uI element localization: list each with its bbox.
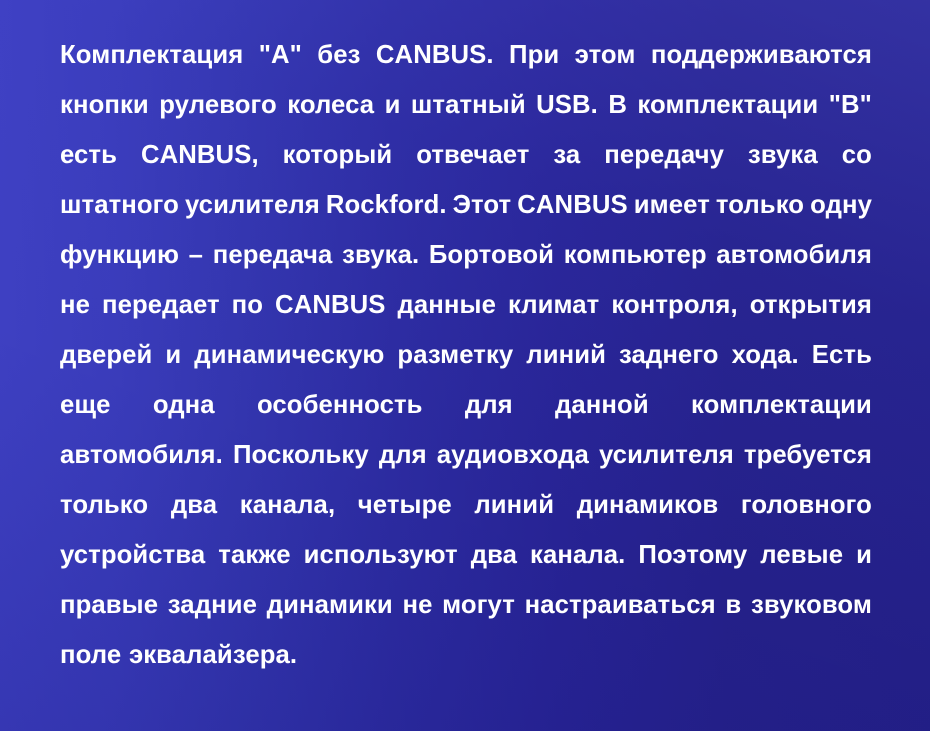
word: одна <box>153 380 215 430</box>
word: "А" <box>259 30 302 80</box>
word: Поэтому <box>638 530 747 580</box>
word: головного <box>741 480 872 530</box>
word: устройства <box>60 530 205 580</box>
word: Поскольку <box>233 430 369 480</box>
word: хода. <box>732 330 799 380</box>
paragraph-line-words: естьCANBUS,которыйотвечаетзапередачузвук… <box>60 130 872 180</box>
word: функцию <box>60 230 179 280</box>
word: по <box>232 280 263 330</box>
word: еще <box>60 380 111 430</box>
word: также <box>218 530 290 580</box>
word: В <box>608 80 627 130</box>
word: При <box>509 30 559 80</box>
paragraph-line-words: дверейидинамическуюразметкулинийзаднегох… <box>60 330 872 380</box>
paragraph-line-words: Комплектация"А"безCANBUS.Приэтомподдержи… <box>60 30 872 80</box>
word: за <box>553 130 580 180</box>
word: Rockford. <box>326 180 447 230</box>
word: – <box>189 230 203 280</box>
word: только <box>60 480 148 530</box>
paragraph-line-words: правыезадниединамикинемогутнастраиваться… <box>60 580 872 630</box>
word: аудиовхода <box>437 430 589 480</box>
paragraph-line-words: устройстватакжеиспользуютдваканала.Поэто… <box>60 530 872 580</box>
paragraph-line: кнопкирулевогоколесаиштатныйUSB.Вкомплек… <box>60 80 872 130</box>
word: поле <box>60 630 121 680</box>
word: для <box>379 430 427 480</box>
word: два <box>171 480 217 530</box>
word: не <box>60 280 90 330</box>
word: линий <box>526 330 606 380</box>
paragraph-line-words: кнопкирулевогоколесаиштатныйUSB.Вкомплек… <box>60 80 872 130</box>
paragraph-line: устройстватакжеиспользуютдваканала.Поэто… <box>60 530 872 580</box>
paragraph-line: толькодваканала,четырелинийдинамиковголо… <box>60 480 872 530</box>
paragraph-line: функцию–передачазвука.Бортовойкомпьютера… <box>60 230 872 280</box>
word: компьютер <box>564 230 707 280</box>
word: имеет <box>634 180 710 230</box>
word: могут <box>442 580 515 630</box>
word: Бортовой <box>429 230 554 280</box>
paragraph-line: штатногоусилителяRockford.ЭтотCANBUSимее… <box>60 180 872 230</box>
word: динамическую <box>194 330 384 380</box>
word: звуковом <box>751 580 872 630</box>
paragraph-line: естьCANBUS,которыйотвечаетзапередачузвук… <box>60 130 872 180</box>
word: контроля, <box>611 280 737 330</box>
word: и <box>165 330 181 380</box>
paragraph-line: Комплектация"А"безCANBUS.Приэтомподдержи… <box>60 30 872 80</box>
word: рулевого <box>159 80 277 130</box>
word: этом <box>575 30 636 80</box>
word: одну <box>810 180 872 230</box>
word: и <box>856 530 872 580</box>
word: CANBUS, <box>141 130 259 180</box>
word: кнопки <box>60 80 149 130</box>
word: данной <box>555 380 649 430</box>
paragraph-line-words: толькодваканала,четырелинийдинамиковголо… <box>60 480 872 530</box>
word: который <box>283 130 393 180</box>
word: со <box>842 130 872 180</box>
word: не <box>402 580 432 630</box>
word: разметку <box>397 330 513 380</box>
word: USB. <box>536 80 598 130</box>
word: передачу <box>604 130 724 180</box>
word: штатного <box>60 180 179 230</box>
word: климат <box>508 280 599 330</box>
paragraph-line-words: функцию–передачазвука.Бортовойкомпьютера… <box>60 230 872 280</box>
word: канала. <box>530 530 625 580</box>
word: данные <box>398 280 496 330</box>
word: открытия <box>750 280 872 330</box>
word: звука <box>748 130 818 180</box>
word: Этот <box>453 180 512 230</box>
word: и <box>385 80 401 130</box>
word: дверей <box>60 330 152 380</box>
word: динамиков <box>577 480 719 530</box>
slide-canvas: Комплектация"А"безCANBUS.Приэтомподдержи… <box>0 0 930 731</box>
word: четыре <box>358 480 452 530</box>
word: левые <box>760 530 843 580</box>
word: используют <box>304 530 458 580</box>
paragraph-line-words: ещеоднаособенностьдляданнойкомплектации <box>60 380 872 430</box>
word: без <box>317 30 360 80</box>
word: эквалайзера. <box>129 630 297 680</box>
word: усилителя <box>185 180 320 230</box>
paragraph-line-words: непередаетпоCANBUSданныеклиматконтроля,о… <box>60 280 872 330</box>
word: автомобиля. <box>60 430 223 480</box>
word: комплектации <box>637 80 818 130</box>
paragraph-line: дверейидинамическуюразметкулинийзаднегох… <box>60 330 872 380</box>
word: "В" <box>829 80 872 130</box>
body-paragraph: Комплектация"А"безCANBUS.Приэтомподдержи… <box>60 30 872 680</box>
word: требуется <box>744 430 872 480</box>
word: передает <box>102 280 220 330</box>
word: правые <box>60 580 158 630</box>
word: звука. <box>342 230 419 280</box>
word: CANBUS <box>275 280 386 330</box>
word: автомобиля <box>716 230 872 280</box>
word: усилителя <box>599 430 734 480</box>
word: есть <box>60 130 117 180</box>
paragraph-line: автомобиля.Посколькудляаудиовходаусилите… <box>60 430 872 480</box>
word: динамики <box>267 580 393 630</box>
paragraph-line: полеэквалайзера. <box>60 630 872 680</box>
word: только <box>716 180 804 230</box>
word: линий <box>474 480 554 530</box>
word: передача <box>213 230 333 280</box>
word: в <box>725 580 741 630</box>
paragraph-line-words: штатногоусилителяRockford.ЭтотCANBUSимее… <box>60 180 872 230</box>
word: CANBUS. <box>376 30 494 80</box>
word: канала, <box>240 480 335 530</box>
paragraph-line: ещеоднаособенностьдляданнойкомплектации <box>60 380 872 430</box>
word: колеса <box>287 80 374 130</box>
word: для <box>465 380 513 430</box>
paragraph-line-words: автомобиля.Посколькудляаудиовходаусилите… <box>60 430 872 480</box>
word: заднего <box>619 330 719 380</box>
paragraph-line: непередаетпоCANBUSданныеклиматконтроля,о… <box>60 280 872 330</box>
word: Комплектация <box>60 30 243 80</box>
word: два <box>471 530 517 580</box>
word: отвечает <box>416 130 529 180</box>
word: штатный <box>411 80 526 130</box>
word: поддерживаются <box>651 30 872 80</box>
word: CANBUS <box>517 180 628 230</box>
paragraph-line: правыезадниединамикинемогутнастраиваться… <box>60 580 872 630</box>
word: особенность <box>257 380 423 430</box>
word: задние <box>168 580 257 630</box>
word: Есть <box>812 330 872 380</box>
word: настраиваться <box>525 580 716 630</box>
word: комплектации <box>691 380 872 430</box>
paragraph-line-words: полеэквалайзера. <box>60 630 872 680</box>
